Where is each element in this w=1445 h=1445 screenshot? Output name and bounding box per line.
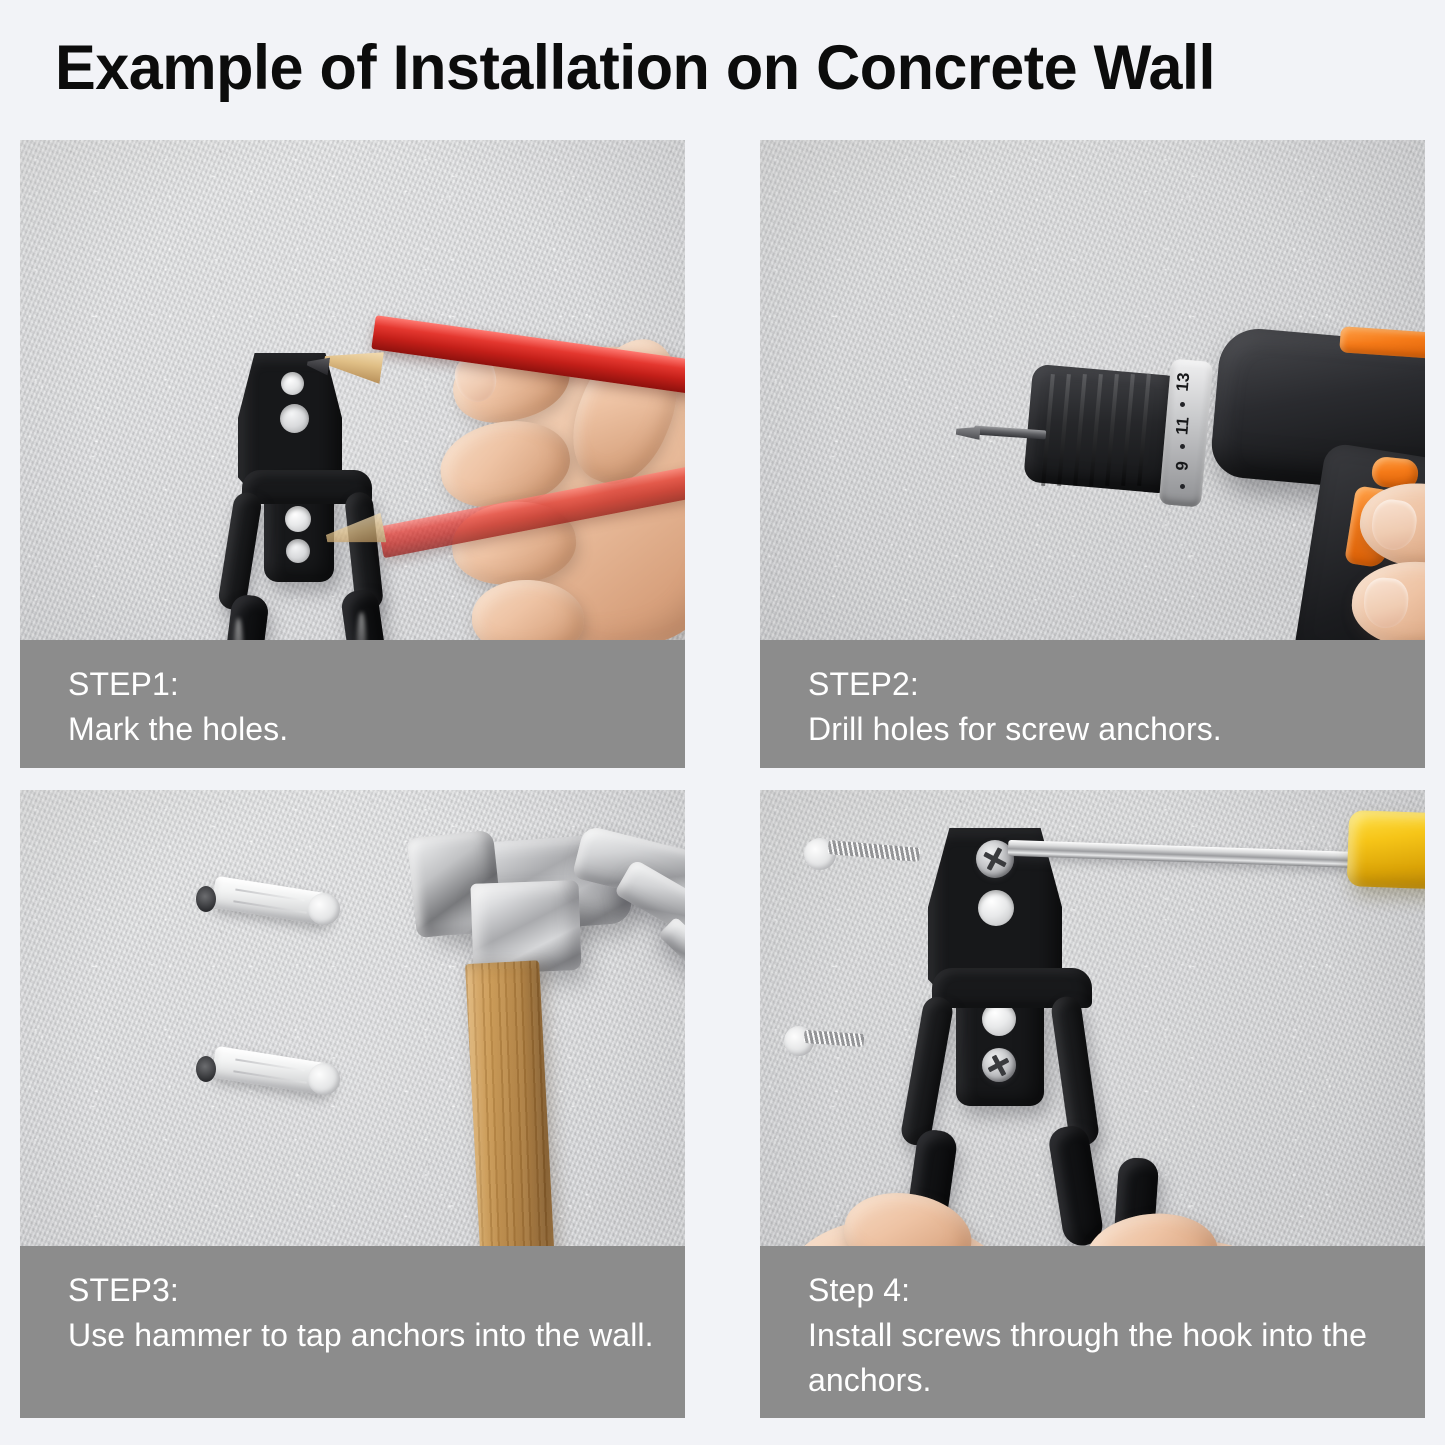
steps-grid: STEP1: Mark the holes. xyxy=(20,140,1425,1418)
step-1-caption: STEP1: Mark the holes. xyxy=(20,640,685,768)
step-4-caption: Step 4: Install screws through the hook … xyxy=(760,1246,1425,1418)
page-title: Example of Installation on Concrete Wall xyxy=(55,27,1355,109)
clutch-mark-13: 13 xyxy=(1173,372,1195,393)
step-2-label: STEP2: xyxy=(808,662,1425,707)
step-1-label: STEP1: xyxy=(68,662,685,707)
clutch-mark-11: 11 xyxy=(1172,416,1193,436)
step-1-text: Mark the holes. xyxy=(68,707,685,752)
hook-plate-hole-top xyxy=(281,372,304,395)
drilled-hole xyxy=(196,1056,216,1082)
drilled-hole xyxy=(196,886,216,912)
clutch-dot xyxy=(1180,402,1185,407)
anchor-flange xyxy=(308,893,340,925)
step-2-text: Drill holes for screw anchors. xyxy=(808,707,1425,752)
anchor-flange xyxy=(308,1063,340,1095)
screwdriver-handle-yellow xyxy=(1347,810,1425,890)
step-3-label: STEP3: xyxy=(68,1268,685,1313)
hook-plate-hole-third xyxy=(285,506,311,532)
step-panel-2: 13 11 9 xyxy=(760,140,1425,768)
hook-plate-hole-bottom xyxy=(286,539,310,563)
hook-plate-hole-second xyxy=(280,404,309,433)
clutch-mark-9: 9 xyxy=(1172,460,1193,471)
step-4-label: Step 4: xyxy=(808,1268,1425,1313)
step-3-text: Use hammer to tap anchors into the wall. xyxy=(68,1313,685,1358)
step-panel-3: STEP3: Use hammer to tap anchors into th… xyxy=(20,790,685,1418)
step-panel-1: STEP1: Mark the holes. xyxy=(20,140,685,768)
clutch-dot xyxy=(1180,484,1185,489)
step-panel-4: Step 4: Install screws through the hook … xyxy=(760,790,1425,1418)
step-4-text: Install screws through the hook into the… xyxy=(808,1313,1425,1403)
hammer-eye-section xyxy=(470,880,581,974)
hook-plate-hole-open xyxy=(978,890,1014,926)
step-3-caption: STEP3: Use hammer to tap anchors into th… xyxy=(20,1246,685,1418)
clutch-dot xyxy=(1180,444,1185,449)
step-2-caption: STEP2: Drill holes for screw anchors. xyxy=(760,640,1425,768)
installation-guide-page: Example of Installation on Concrete Wall xyxy=(0,0,1445,1445)
